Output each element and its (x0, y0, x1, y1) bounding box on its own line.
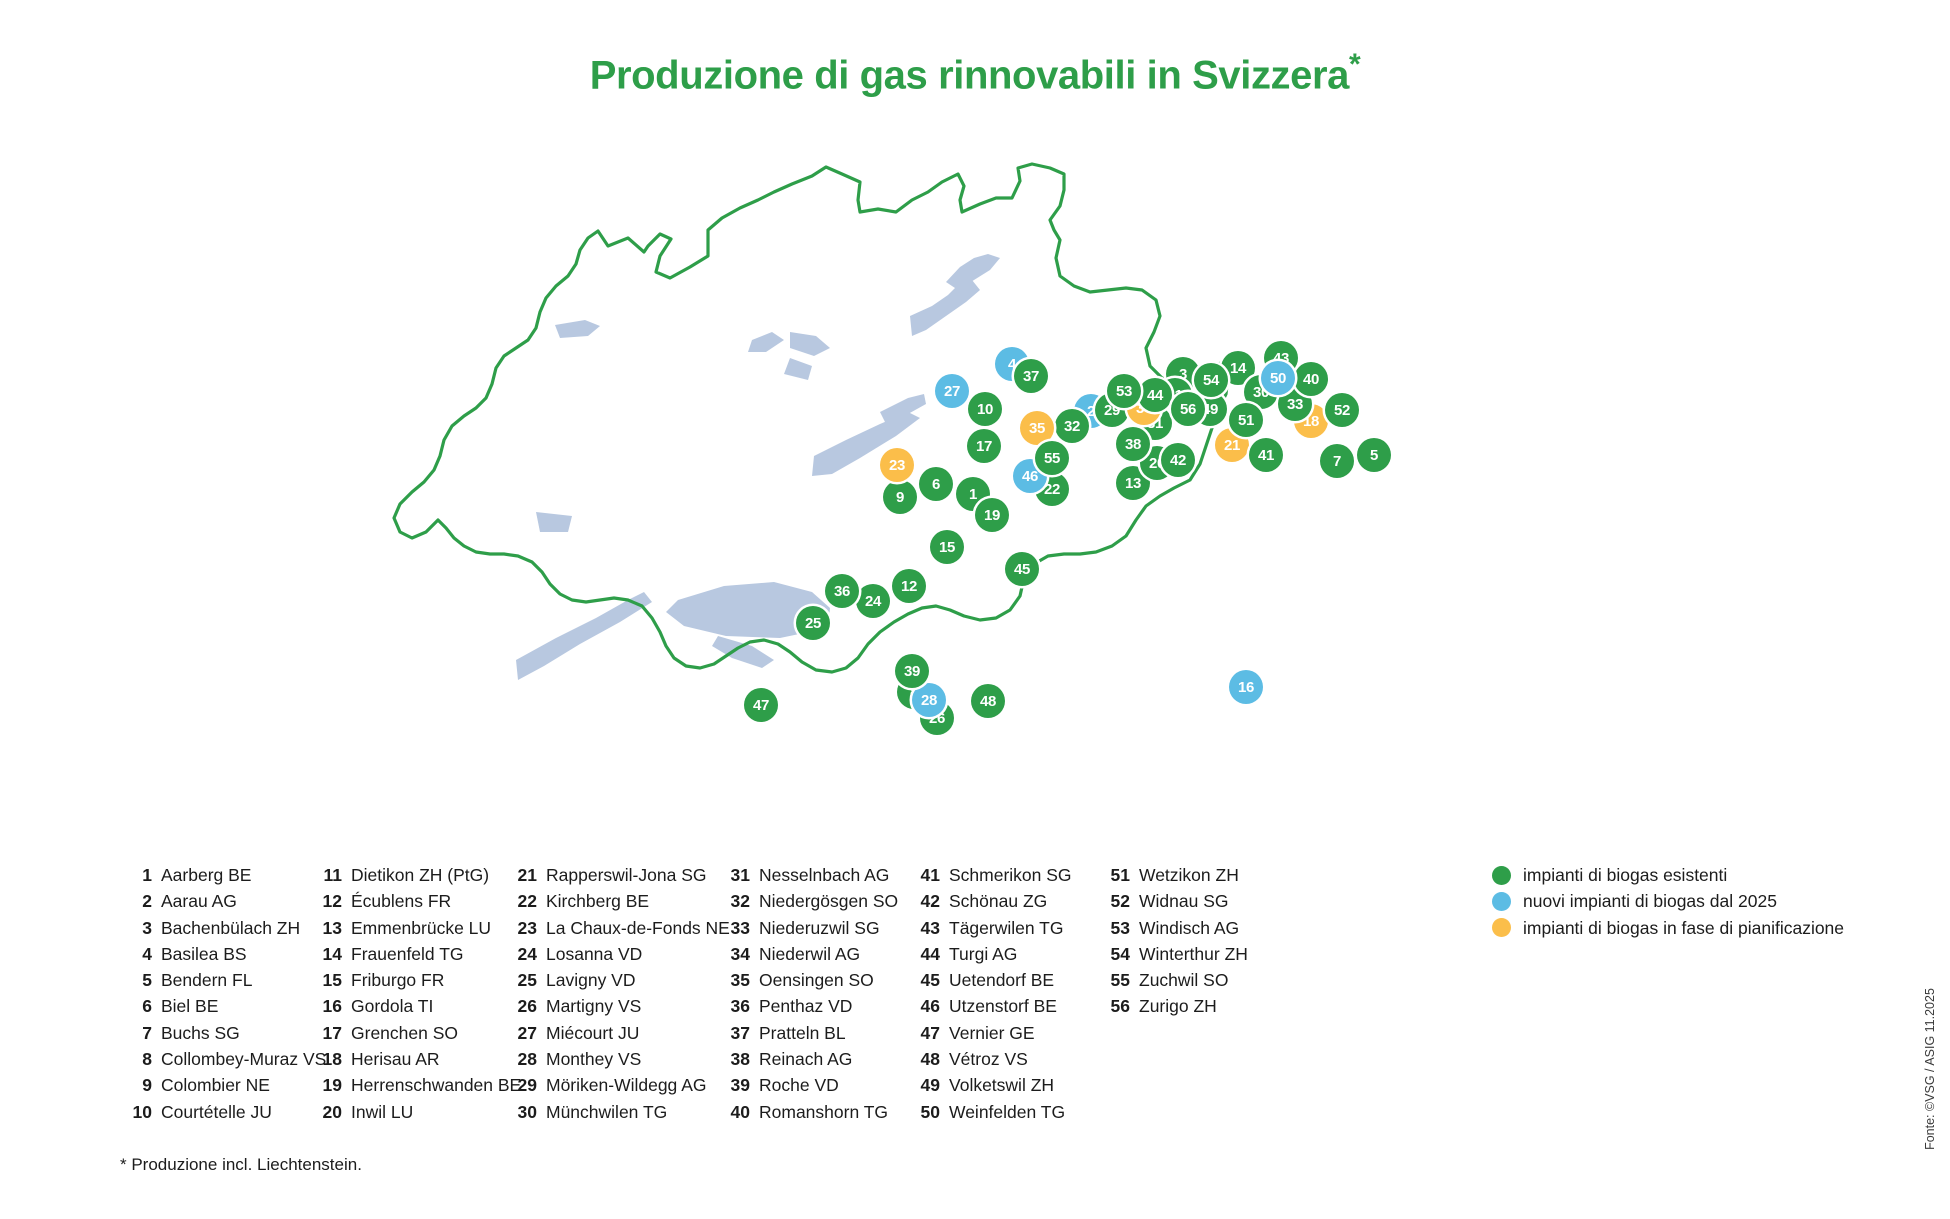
site-index-item-50: 50Weinfelden TG (908, 1099, 1098, 1125)
color-key-item-green: impianti di biogas esistenti (1492, 862, 1844, 888)
site-index-label: Turgi AG (949, 941, 1017, 967)
map-marker-label: 35 (1029, 421, 1045, 436)
site-index-item-23: 23La Chaux-de-Fonds NE (505, 915, 718, 941)
map-marker-label: 6 (932, 477, 940, 492)
site-index-item-44: 44Turgi AG (908, 941, 1098, 967)
map-marker-label: 38 (1125, 437, 1141, 452)
site-index-item-22: 22Kirchberg BE (505, 888, 718, 914)
map-marker-label: 19 (984, 508, 1000, 523)
site-index-item-47: 47Vernier GE (908, 1020, 1098, 1046)
page-title: Produzione di gas rinnovabili in Svizzer… (0, 48, 1950, 98)
page-title-text: Produzione di gas rinnovabili in Svizzer… (590, 53, 1349, 97)
site-index-number: 20 (310, 1099, 342, 1125)
map-marker-45[interactable]: 45 (1005, 552, 1039, 586)
site-index-item-51: 51Wetzikon ZH (1098, 862, 1288, 888)
site-index-number: 52 (1098, 888, 1130, 914)
map-marker-40[interactable]: 40 (1294, 362, 1328, 396)
site-index-number: 46 (908, 993, 940, 1019)
site-index-item-56: 56Zurigo ZH (1098, 993, 1288, 1019)
map-marker-label: 41 (1258, 448, 1274, 463)
map-marker-38[interactable]: 38 (1116, 427, 1150, 461)
source-credit-holder: Fonte: ©VSG / ASIG 11.2025 (1910, 919, 1950, 1219)
color-key-swatch-yellow-icon (1492, 918, 1511, 937)
site-index-number: 36 (718, 993, 750, 1019)
site-index-label: Friburgo FR (351, 967, 444, 993)
site-index-label: Utzenstorf BE (949, 993, 1057, 1019)
site-index-item-3: 3Bachenbülach ZH (120, 915, 310, 941)
site-index-number: 29 (505, 1072, 537, 1098)
map-marker-label: 46 (1022, 469, 1038, 484)
site-index-label: Emmenbrücke LU (351, 915, 491, 941)
map-marker-53[interactable]: 53 (1107, 374, 1141, 408)
site-index-number: 42 (908, 888, 940, 914)
map-marker-35[interactable]: 35 (1020, 411, 1054, 445)
site-index-number: 10 (120, 1099, 152, 1125)
map-marker-16[interactable]: 16 (1229, 670, 1263, 704)
site-index-item-55: 55Zuchwil SO (1098, 967, 1288, 993)
site-index-item-11: 11Dietikon ZH (PtG) (310, 862, 505, 888)
site-index-label: Aarberg BE (161, 862, 251, 888)
map-marker-label: 23 (889, 458, 905, 473)
site-index-number: 37 (718, 1020, 750, 1046)
color-key-swatch-blue-icon (1492, 892, 1511, 911)
map-marker-label: 27 (944, 384, 960, 399)
source-credit: Fonte: ©VSG / ASIG 11.2025 (1923, 988, 1937, 1150)
site-index-label: Reinach AG (759, 1046, 852, 1072)
site-index-item-15: 15Friburgo FR (310, 967, 505, 993)
site-index-label: Roche VD (759, 1072, 839, 1098)
site-index-number: 48 (908, 1046, 940, 1072)
site-index-label: Losanna VD (546, 941, 642, 967)
site-index-label: Rapperswil-Jona SG (546, 862, 706, 888)
site-index-item-4: 4Basilea BS (120, 941, 310, 967)
color-key-item-yellow: impianti di biogas in fase di pianificaz… (1492, 915, 1844, 941)
map-marker-47[interactable]: 47 (744, 688, 778, 722)
site-index-label: Grenchen SO (351, 1020, 458, 1046)
site-index-number: 50 (908, 1099, 940, 1125)
site-index-label: Schmerikon SG (949, 862, 1072, 888)
map-marker-17[interactable]: 17 (967, 429, 1001, 463)
site-index-item-52: 52Widnau SG (1098, 888, 1288, 914)
footnote: * Produzione incl. Liechtenstein. (120, 1155, 362, 1175)
site-index-item-45: 45Uetendorf BE (908, 967, 1098, 993)
map-marker-label: 33 (1287, 397, 1303, 412)
map-marker-label: 2 (1087, 404, 1095, 419)
site-index-label: Martigny VS (546, 993, 641, 1019)
site-index-number: 9 (120, 1072, 152, 1098)
site-index-item-8: 8Collombey-Muraz VS (120, 1046, 310, 1072)
site-index-label: Kirchberg BE (546, 888, 649, 914)
site-index-label: Nesselnbach AG (759, 862, 889, 888)
site-index-number: 53 (1098, 915, 1130, 941)
site-index-number: 19 (310, 1072, 342, 1098)
map-marker-label: 51 (1238, 413, 1254, 428)
site-index-label: Courtételle JU (161, 1099, 272, 1125)
site-index-label: Bachenbülach ZH (161, 915, 300, 941)
site-index-label: Inwil LU (351, 1099, 413, 1125)
site-index-item-17: 17Grenchen SO (310, 1020, 505, 1046)
site-index-number: 24 (505, 941, 537, 967)
map-marker-28[interactable]: 28 (912, 683, 946, 717)
site-index-number: 33 (718, 915, 750, 941)
site-index-number: 17 (310, 1020, 342, 1046)
site-index-item-10: 10Courtételle JU (120, 1099, 310, 1125)
map-marker-41[interactable]: 41 (1249, 438, 1283, 472)
map-marker-label: 13 (1125, 476, 1141, 491)
site-index-item-31: 31Nesselnbach AG (718, 862, 908, 888)
color-key-swatch-green-icon (1492, 866, 1511, 885)
site-index-number: 23 (505, 915, 537, 941)
site-index-number: 43 (908, 915, 940, 941)
site-index-label: Miécourt JU (546, 1020, 639, 1046)
site-index-label: Gordola TI (351, 993, 433, 1019)
map-marker-label: 25 (805, 616, 821, 631)
site-index-number: 22 (505, 888, 537, 914)
site-index-label: Niederuzwil SG (759, 915, 880, 941)
map-marker-label: 10 (977, 402, 993, 417)
site-index-item-35: 35Oensingen SO (718, 967, 908, 993)
site-index-number: 28 (505, 1046, 537, 1072)
site-index-label: Collombey-Muraz VS (161, 1046, 326, 1072)
map-marker-44[interactable]: 44 (1138, 378, 1172, 412)
site-index-number: 38 (718, 1046, 750, 1072)
site-index-number: 41 (908, 862, 940, 888)
site-index-label: Basilea BS (161, 941, 247, 967)
site-index-item-32: 32Niedergösgen SO (718, 888, 908, 914)
map-marker-12[interactable]: 12 (892, 569, 926, 603)
map-marker-label: 24 (865, 594, 881, 609)
map-marker-19[interactable]: 19 (975, 498, 1009, 532)
site-index-item-29: 29Möriken-Wildegg AG (505, 1072, 718, 1098)
site-index-label: Écublens FR (351, 888, 451, 914)
site-index-number: 5 (120, 967, 152, 993)
site-index-number: 6 (120, 993, 152, 1019)
site-index-item-30: 30Münchwilen TG (505, 1099, 718, 1125)
site-index-item-49: 49Volketswil ZH (908, 1072, 1098, 1098)
site-index-number: 32 (718, 888, 750, 914)
map-marker-label: 56 (1180, 402, 1196, 417)
infographic-page: Produzione di gas rinnovabili in Svizzer… (0, 0, 1950, 1219)
map-marker-label: 54 (1203, 373, 1219, 388)
site-index-number: 45 (908, 967, 940, 993)
map-marker-25[interactable]: 25 (796, 606, 830, 640)
site-index-column-6: 51Wetzikon ZH52Widnau SG53Windisch AG54W… (1098, 862, 1288, 1125)
site-index-label: Aarau AG (161, 888, 237, 914)
map-marker-27[interactable]: 27 (935, 374, 969, 408)
site-index-label: Wetzikon ZH (1139, 862, 1239, 888)
site-index-number: 13 (310, 915, 342, 941)
site-index-item-34: 34Niederwil AG (718, 941, 908, 967)
site-index-number: 3 (120, 915, 152, 941)
map-marker-5[interactable]: 5 (1357, 438, 1391, 472)
site-index-column-2: 11Dietikon ZH (PtG)12Écublens FR13Emmenb… (310, 862, 505, 1125)
site-index-number: 56 (1098, 993, 1130, 1019)
site-index-number: 12 (310, 888, 342, 914)
map-marker-39[interactable]: 39 (895, 654, 929, 688)
site-index-number: 40 (718, 1099, 750, 1125)
site-index-number: 51 (1098, 862, 1130, 888)
site-index-item-16: 16Gordola TI (310, 993, 505, 1019)
site-index-item-38: 38Reinach AG (718, 1046, 908, 1072)
map-marker-label: 48 (980, 694, 996, 709)
site-index-label: Uetendorf BE (949, 967, 1054, 993)
map-marker-label: 39 (904, 664, 920, 679)
site-index-number: 55 (1098, 967, 1130, 993)
site-index-label: Vernier GE (949, 1020, 1035, 1046)
map-marker-label: 22 (1044, 482, 1060, 497)
site-index-number: 47 (908, 1020, 940, 1046)
site-index-item-2: 2Aarau AG (120, 888, 310, 914)
site-index-item-19: 19Herrenschwanden BE (310, 1072, 505, 1098)
site-index-number: 30 (505, 1099, 537, 1125)
map-marker-55[interactable]: 55 (1035, 441, 1069, 475)
map-marker-42[interactable]: 42 (1161, 443, 1195, 477)
site-index-item-54: 54Winterthur ZH (1098, 941, 1288, 967)
map-marker-23[interactable]: 23 (880, 448, 914, 482)
map-marker-label: 47 (753, 698, 769, 713)
map-marker-label: 55 (1044, 451, 1060, 466)
site-index-number: 18 (310, 1046, 342, 1072)
map-marker-52[interactable]: 52 (1325, 393, 1359, 427)
site-index-item-26: 26Martigny VS (505, 993, 718, 1019)
site-index-number: 8 (120, 1046, 152, 1072)
color-key-item-blue: nuovi impianti di biogas dal 2025 (1492, 888, 1844, 914)
site-index-item-21: 21Rapperswil-Jona SG (505, 862, 718, 888)
map-marker-54[interactable]: 54 (1194, 363, 1228, 397)
site-index-item-43: 43Tägerwilen TG (908, 915, 1098, 941)
site-index-label: Lavigny VD (546, 967, 636, 993)
site-index-number: 11 (310, 862, 342, 888)
site-index-item-36: 36Penthaz VD (718, 993, 908, 1019)
site-index-item-1: 1Aarberg BE (120, 862, 310, 888)
site-index-number: 39 (718, 1072, 750, 1098)
map-marker-label: 28 (921, 693, 937, 708)
map-marker-15[interactable]: 15 (930, 530, 964, 564)
map-marker-label: 14 (1230, 361, 1246, 376)
site-index-number: 2 (120, 888, 152, 914)
site-index-column-5: 41Schmerikon SG42Schönau ZG43Tägerwilen … (908, 862, 1098, 1125)
site-index-label: Monthey VS (546, 1046, 641, 1072)
site-index-label: Windisch AG (1139, 915, 1239, 941)
site-index-number: 14 (310, 941, 342, 967)
site-index-number: 26 (505, 993, 537, 1019)
site-index-label: Penthaz VD (759, 993, 852, 1019)
map-marker-label: 40 (1303, 372, 1319, 387)
site-index-item-5: 5Bendern FL (120, 967, 310, 993)
site-index-label: Tägerwilen TG (949, 915, 1063, 941)
site-index-number: 7 (120, 1020, 152, 1046)
map-marker-9[interactable]: 9 (883, 480, 917, 514)
site-index-label: Herrenschwanden BE (351, 1072, 521, 1098)
color-key-legend: impianti di biogas esistentinuovi impian… (1492, 862, 1844, 941)
site-index-column-1: 1Aarberg BE2Aarau AG3Bachenbülach ZH4Bas… (120, 862, 310, 1125)
map-marker-24[interactable]: 24 (856, 584, 890, 618)
site-index-item-14: 14Frauenfeld TG (310, 941, 505, 967)
title-asterisk: * (1349, 48, 1360, 81)
site-index-label: Dietikon ZH (PtG) (351, 862, 489, 888)
site-index-label: Oensingen SO (759, 967, 874, 993)
site-index-number: 27 (505, 1020, 537, 1046)
site-index-number: 25 (505, 967, 537, 993)
site-index-label: Vétroz VS (949, 1046, 1028, 1072)
site-index-label: Pratteln BL (759, 1020, 846, 1046)
map-marker-label: 42 (1170, 453, 1186, 468)
site-index-number: 31 (718, 862, 750, 888)
map-marker-label: 52 (1334, 403, 1350, 418)
map-marker-6[interactable]: 6 (919, 467, 953, 501)
site-index-label: Herisau AR (351, 1046, 440, 1072)
site-index-column-3: 21Rapperswil-Jona SG22Kirchberg BE23La C… (505, 862, 718, 1125)
lakes-layer (516, 254, 1000, 680)
map-marker-7[interactable]: 7 (1320, 444, 1354, 478)
site-index-item-27: 27Miécourt JU (505, 1020, 718, 1046)
site-index-item-6: 6Biel BE (120, 993, 310, 1019)
site-index-label: Zurigo ZH (1139, 993, 1217, 1019)
map-marker-label: 36 (834, 584, 850, 599)
map-marker-37[interactable]: 37 (1014, 359, 1048, 393)
map-marker-label: 53 (1116, 384, 1132, 399)
site-index-label: Niedergösgen SO (759, 888, 898, 914)
site-index-item-48: 48Vétroz VS (908, 1046, 1098, 1072)
color-key-label: impianti di biogas in fase di pianificaz… (1523, 915, 1844, 941)
site-index-label: Bendern FL (161, 967, 252, 993)
map-marker-51[interactable]: 51 (1229, 403, 1263, 437)
site-index-label: La Chaux-de-Fonds NE (546, 915, 730, 941)
site-index-label: Möriken-Wildegg AG (546, 1072, 706, 1098)
site-index-number: 21 (505, 862, 537, 888)
color-key-label: nuovi impianti di biogas dal 2025 (1523, 888, 1777, 914)
map-marker-label: 16 (1238, 680, 1254, 695)
site-index-item-33: 33Niederuzwil SG (718, 915, 908, 941)
map-marker-label: 12 (901, 579, 917, 594)
map-marker-label: 21 (1224, 438, 1240, 453)
site-index-item-28: 28Monthey VS (505, 1046, 718, 1072)
map-marker-50[interactable]: 50 (1261, 361, 1295, 395)
site-index-label: Romanshorn TG (759, 1099, 888, 1125)
site-index-label: Buchs SG (161, 1020, 240, 1046)
site-index-number: 54 (1098, 941, 1130, 967)
site-index-item-46: 46Utzenstorf BE (908, 993, 1098, 1019)
map-marker-label: 7 (1333, 454, 1341, 469)
site-index-legend: 1Aarberg BE2Aarau AG3Bachenbülach ZH4Bas… (120, 862, 1520, 1125)
site-index-number: 34 (718, 941, 750, 967)
map-marker-label: 17 (976, 439, 992, 454)
site-index-item-40: 40Romanshorn TG (718, 1099, 908, 1125)
site-index-number: 35 (718, 967, 750, 993)
switzerland-map: 1234567891011121314151617181920212223242… (360, 140, 1610, 700)
map-marker-label: 9 (896, 490, 904, 505)
site-index-item-42: 42Schönau ZG (908, 888, 1098, 914)
site-index-number: 16 (310, 993, 342, 1019)
site-index-label: Zuchwil SO (1139, 967, 1228, 993)
site-index-item-7: 7Buchs SG (120, 1020, 310, 1046)
map-marker-48[interactable]: 48 (971, 684, 1005, 718)
site-index-number: 1 (120, 862, 152, 888)
map-marker-label: 45 (1014, 562, 1030, 577)
site-index-number: 44 (908, 941, 940, 967)
site-index-label: Biel BE (161, 993, 218, 1019)
map-marker-56[interactable]: 56 (1171, 392, 1205, 426)
site-index-label: Winterthur ZH (1139, 941, 1248, 967)
site-index-item-37: 37Pratteln BL (718, 1020, 908, 1046)
site-index-label: Volketswil ZH (949, 1072, 1054, 1098)
site-index-label: Münchwilen TG (546, 1099, 667, 1125)
map-marker-label: 37 (1023, 369, 1039, 384)
map-marker-32[interactable]: 32 (1055, 409, 1089, 443)
map-marker-label: 50 (1270, 371, 1286, 386)
site-index-column-4: 31Nesselnbach AG32Niedergösgen SO33Niede… (718, 862, 908, 1125)
site-index-number: 15 (310, 967, 342, 993)
site-index-item-9: 9Colombier NE (120, 1072, 310, 1098)
site-index-label: Frauenfeld TG (351, 941, 464, 967)
site-index-item-13: 13Emmenbrücke LU (310, 915, 505, 941)
site-index-item-53: 53Windisch AG (1098, 915, 1288, 941)
site-index-item-41: 41Schmerikon SG (908, 862, 1098, 888)
map-marker-label: 44 (1147, 388, 1163, 403)
site-index-label: Widnau SG (1139, 888, 1228, 914)
site-index-label: Colombier NE (161, 1072, 270, 1098)
site-index-item-25: 25Lavigny VD (505, 967, 718, 993)
site-index-number: 4 (120, 941, 152, 967)
map-marker-36[interactable]: 36 (825, 574, 859, 608)
site-index-item-20: 20Inwil LU (310, 1099, 505, 1125)
site-index-item-24: 24Losanna VD (505, 941, 718, 967)
site-index-label: Weinfelden TG (949, 1099, 1065, 1125)
map-marker-10[interactable]: 10 (968, 392, 1002, 426)
color-key-label: impianti di biogas esistenti (1523, 862, 1727, 888)
map-marker-label: 15 (939, 540, 955, 555)
map-marker-label: 1 (969, 487, 977, 502)
map-marker-label: 32 (1064, 419, 1080, 434)
site-index-item-18: 18Herisau AR (310, 1046, 505, 1072)
site-index-label: Schönau ZG (949, 888, 1047, 914)
map-marker-label: 5 (1370, 448, 1378, 463)
site-index-item-39: 39Roche VD (718, 1072, 908, 1098)
site-index-number: 49 (908, 1072, 940, 1098)
site-index-label: Niederwil AG (759, 941, 860, 967)
site-index-item-12: 12Écublens FR (310, 888, 505, 914)
